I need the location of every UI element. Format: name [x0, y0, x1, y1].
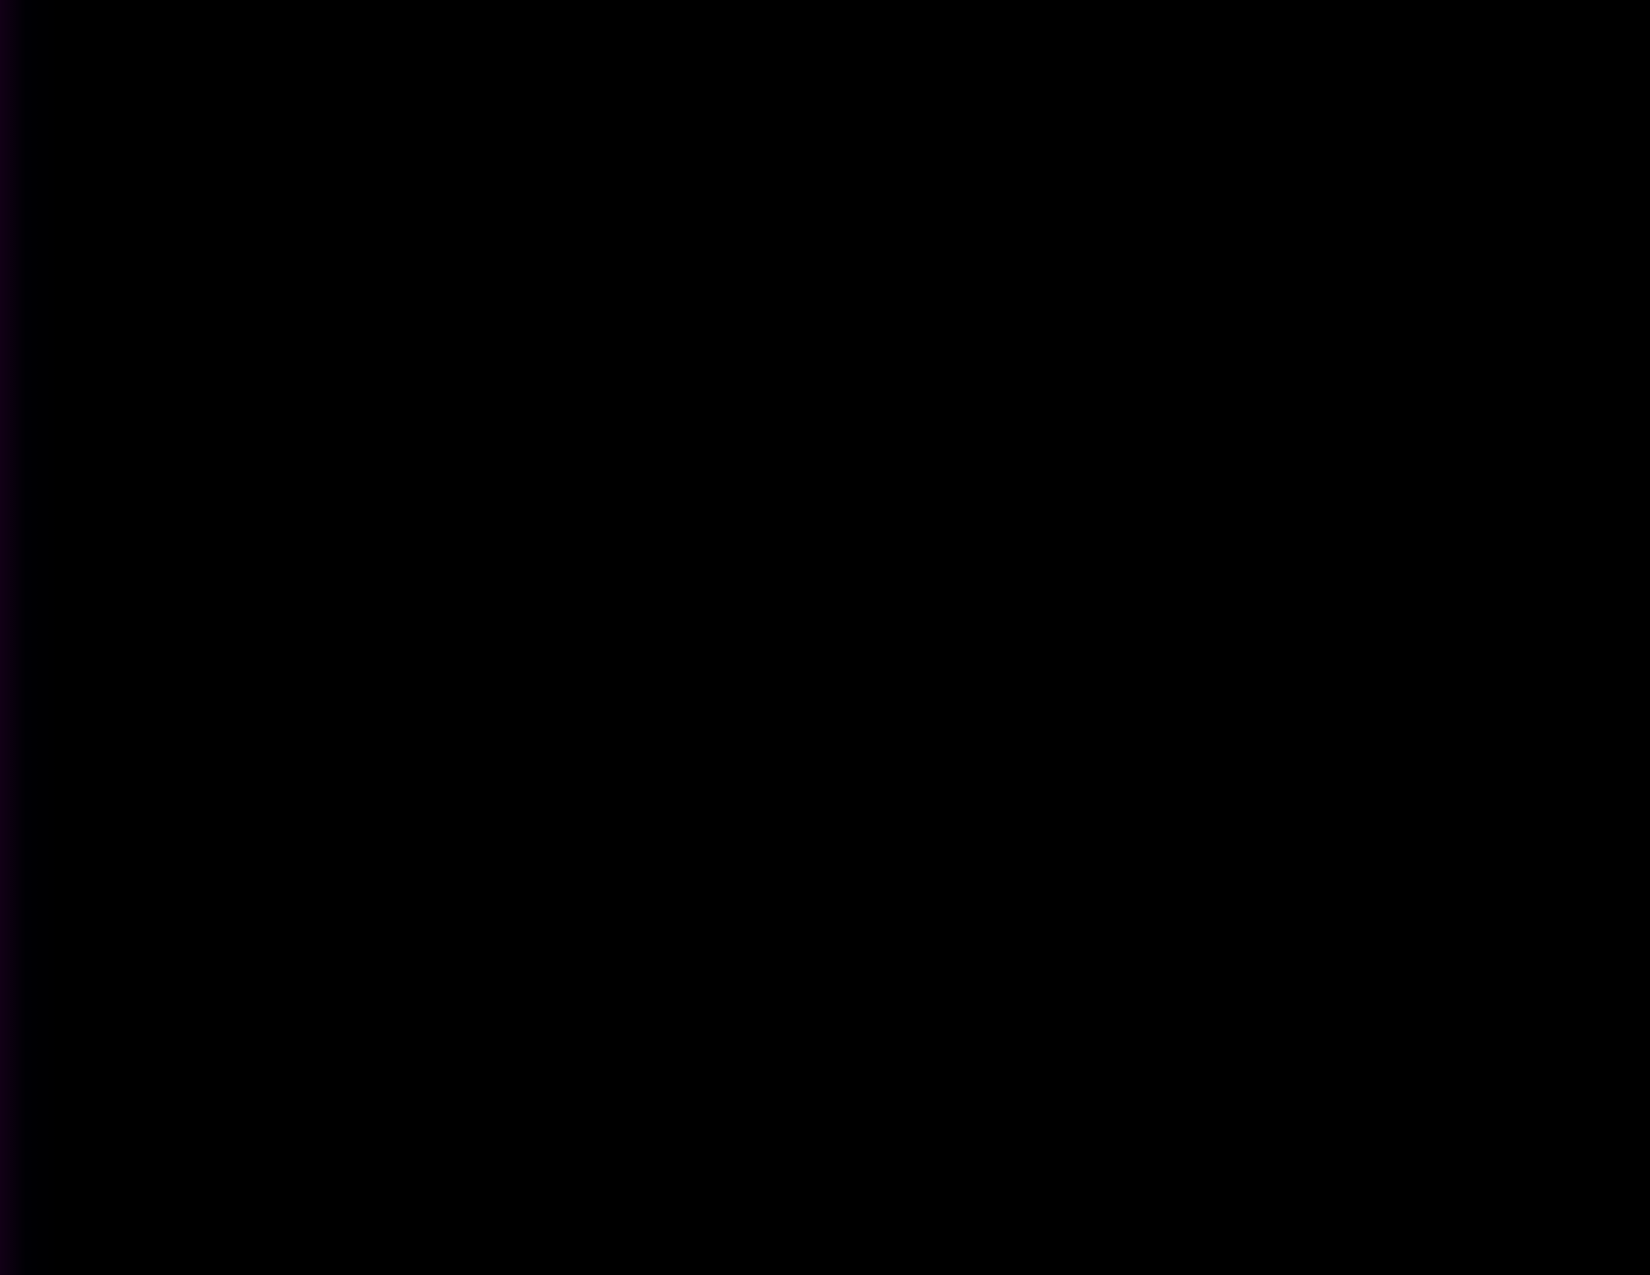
verse-line-1: And I saw the dead, the great and the	[85, 107, 1358, 195]
attribution-reference: — Revelation 20:12 (	[571, 725, 1168, 813]
verse-line-7: according to their deeds.	[85, 635, 1358, 723]
verse-line-4: was opened, which is the book of life; a…	[85, 371, 1358, 459]
attribution-book-chapter-verse: Revelation 20:12	[649, 729, 1131, 809]
top-band-cyan-streak-left	[22, 55, 272, 79]
attribution-open-paren: (	[1148, 729, 1168, 809]
attribution-version-group: NASB®)	[1207, 725, 1446, 813]
attribution-dash: —	[571, 729, 632, 809]
registered-trademark-icon: ®	[1402, 740, 1425, 776]
verse-line-2: small, standing before the throne, and	[85, 195, 1358, 283]
verse-text-block: And I saw the dead, the great and the sm…	[85, 107, 1565, 833]
top-band-cyan-streak-right	[1172, 51, 1615, 77]
top-band-cyan-notch	[526, 45, 595, 73]
verse-slide-screenshot: And I saw the dead, the great and the sm…	[0, 0, 1650, 1275]
top-highlight-band	[22, 9, 1615, 91]
slide-canvas: And I saw the dead, the great and the sm…	[22, 9, 1615, 1233]
verse-line-6: which were written in the books,	[85, 547, 1358, 635]
verse-line-5: the dead were judged from the things	[85, 459, 1358, 547]
top-band-right-corner-glow	[1555, 9, 1615, 104]
attribution-close-paren: )	[1424, 730, 1446, 808]
attribution-version: NASB	[1207, 730, 1401, 808]
verse-line-3: books were opened; and another book	[85, 283, 1358, 371]
verse-attribution: — Revelation 20:12 (NASB®)	[85, 725, 1565, 833]
